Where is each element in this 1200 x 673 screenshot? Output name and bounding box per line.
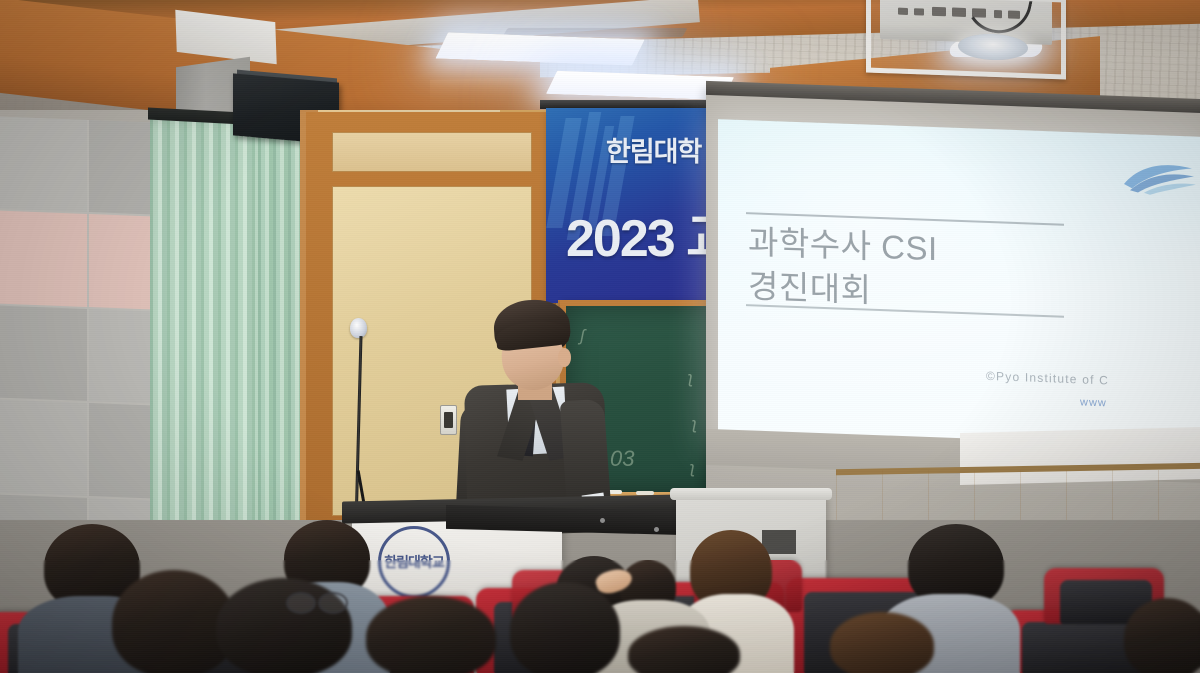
- presenter-ear: [558, 348, 571, 367]
- banner-year-text: 2023 교: [566, 196, 718, 271]
- chalk-mark: ʅ: [690, 458, 695, 478]
- presentation-slide: 과학수사 CSI 경진대회 ©Pyo Institute of C www: [718, 119, 1200, 455]
- door-transom-panel: [332, 132, 532, 172]
- audience-head: [366, 596, 496, 673]
- audience-glasses: [286, 592, 316, 614]
- ceiling-mounted-projector: [866, 0, 1086, 84]
- lecture-hall-photo: 한림대학 2023 교 ʃ 03 ʅ ʅ ʅ 과학수사 CSI 경진대회 ©Py…: [0, 0, 1200, 673]
- audience-head: [830, 612, 934, 673]
- audience-head: [510, 582, 620, 673]
- chalk-mark: ʅ: [688, 368, 693, 388]
- lectern-university-emblem: 한림대학교: [378, 526, 450, 598]
- slide-url: www: [1080, 396, 1200, 415]
- audience-glasses: [318, 592, 348, 614]
- secondary-lectern-top: [670, 488, 832, 500]
- lectern-screw: [600, 518, 605, 523]
- wave-swoosh-logo: [1122, 158, 1200, 197]
- chalk-mark: 03: [610, 446, 634, 472]
- event-banner: 한림대학 2023 교: [546, 108, 718, 303]
- chalk-mark: ʅ: [692, 414, 697, 434]
- audience-head: [628, 626, 740, 673]
- banner-organization-text: 한림대학: [606, 130, 718, 169]
- audience-head: [1124, 598, 1200, 673]
- slide-copyright: ©Pyo Institute of C: [986, 369, 1200, 393]
- lectern-screw: [654, 527, 659, 532]
